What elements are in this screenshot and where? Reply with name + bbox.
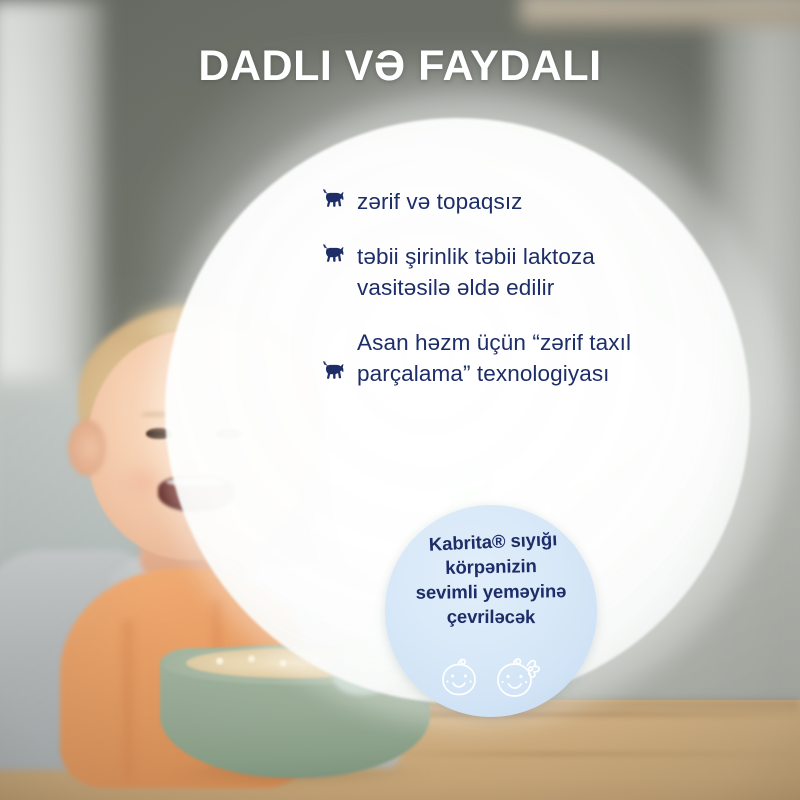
counter-strip xyxy=(520,0,800,34)
bib-fold xyxy=(120,620,136,780)
list-item-label: zərif və topaqsız xyxy=(357,186,523,217)
goat-icon xyxy=(322,360,346,382)
baby-boy-face-icon xyxy=(436,655,482,701)
list-item-label: təbii şirinlik təbii laktoza vasitəsilə … xyxy=(357,241,595,303)
promo-banner: DADLI VƏ FAYDALI zərif və topaqsız xyxy=(0,0,800,800)
page-title: DADLI VƏ FAYDALI xyxy=(0,42,800,91)
goat-icon xyxy=(322,188,346,210)
list-item: təbii şirinlik təbii laktoza vasitəsilə … xyxy=(322,241,702,303)
badge-text: Kabrita® sıyığı körpənizin sevimli yeməy… xyxy=(385,529,597,629)
badge-icons xyxy=(385,645,597,711)
badge-line: körpənizin xyxy=(393,552,589,581)
list-item: Asan həzm üçün “zərif taxıl parçalama” t… xyxy=(322,327,702,389)
badge-line: çevriləcək xyxy=(393,604,589,630)
goat-icon xyxy=(322,243,346,265)
list-item: zərif və topaqsız xyxy=(322,186,702,217)
table-grain xyxy=(380,752,800,756)
badge-line: sevimli yeməyinə xyxy=(393,578,589,605)
baby-girl-face-icon xyxy=(492,652,546,704)
promo-badge: Kabrita® sıyığı körpənizin sevimli yeməy… xyxy=(385,505,597,717)
baby-ear-left xyxy=(68,420,106,476)
benefits-list: zərif və topaqsız təbii şirinlik təbii l… xyxy=(322,186,702,389)
list-item-label: Asan həzm üçün “zərif taxıl parçalama” t… xyxy=(357,327,631,389)
